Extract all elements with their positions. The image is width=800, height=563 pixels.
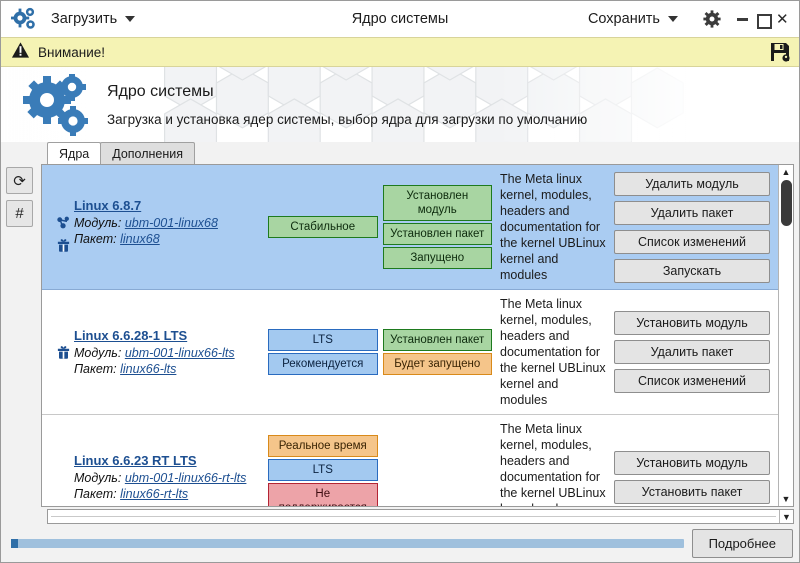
module-icon bbox=[56, 215, 71, 235]
action-button[interactable]: Список изменений bbox=[614, 369, 770, 393]
package-link[interactable]: linux68 bbox=[120, 232, 160, 246]
progress-bar bbox=[11, 539, 684, 548]
details-button[interactable]: Подробнее bbox=[692, 529, 793, 558]
status-badge: Рекомендуется bbox=[268, 353, 378, 375]
kernel-actions: Установить модульУстановить пакет bbox=[614, 451, 770, 504]
save-menu-label: Сохранить bbox=[588, 11, 660, 27]
close-icon[interactable]: ✕ bbox=[776, 13, 789, 26]
action-button[interactable]: Список изменений bbox=[614, 230, 770, 254]
kernel-description: The Meta linux kernel, modules, headers … bbox=[492, 296, 614, 408]
warning-text: Внимание! bbox=[38, 45, 105, 60]
kernel-row-icons bbox=[52, 327, 74, 377]
package-link[interactable]: linux66-lts bbox=[120, 362, 176, 376]
package-icon bbox=[56, 238, 71, 258]
module-link[interactable]: ubm-001-linux68 bbox=[125, 216, 218, 230]
package-link[interactable]: linux66-rt-lts bbox=[120, 487, 188, 501]
badge-left-column: LTSРекомендуется bbox=[268, 329, 378, 375]
load-menu-button[interactable]: Загрузить bbox=[45, 8, 141, 30]
footer-bar: Подробнее bbox=[1, 524, 799, 562]
kernel-module-line: Модуль: ubm-001-linux68 bbox=[74, 215, 262, 231]
main-body: ⟳ # Linux 6.8.7Модуль: ubm-001-linux68Па… bbox=[1, 164, 799, 507]
kernel-text-block: Linux 6.6.23 RT LTSМодуль: ubm-001-linux… bbox=[74, 452, 262, 502]
kernel-row[interactable]: Linux 6.6.28-1 LTSМодуль: ubm-001-linux6… bbox=[42, 290, 778, 415]
status-badge: Не поддерживается bbox=[268, 483, 378, 506]
minimize-icon[interactable] bbox=[736, 13, 749, 26]
kernel-description: The Meta linux kernel, modules, headers … bbox=[492, 421, 614, 506]
status-badge: Реальное время bbox=[268, 435, 378, 457]
scroll-up-arrow-icon[interactable]: ▲ bbox=[782, 165, 791, 179]
hero-subtitle: Загрузка и установка ядер системы, выбор… bbox=[107, 112, 587, 127]
floppy-save-icon[interactable] bbox=[769, 41, 791, 63]
kernel-info: Linux 6.6.28-1 LTSМодуль: ubm-001-linux6… bbox=[52, 327, 262, 377]
load-menu-label: Загрузить bbox=[51, 11, 117, 27]
kernel-badges: Реальное времяLTSНе поддерживается bbox=[262, 435, 492, 506]
badge-left-column: Стабильное bbox=[268, 216, 378, 238]
kernel-row[interactable]: Linux 6.8.7Модуль: ubm-001-linux68Пакет:… bbox=[42, 165, 778, 290]
package-icon bbox=[56, 345, 71, 365]
kernel-name-link[interactable]: Linux 6.6.28-1 LTS bbox=[74, 328, 187, 343]
window-controls: ✕ bbox=[736, 13, 793, 26]
scroll-right-arrow-icon[interactable]: ▼ bbox=[779, 510, 793, 523]
scroll-down-arrow-icon[interactable]: ▼ bbox=[782, 492, 791, 506]
module-label: Модуль: bbox=[74, 471, 121, 485]
kernel-package-line: Пакет: linux66-lts bbox=[74, 361, 262, 377]
tab-bar: Ядра Дополнения bbox=[1, 142, 799, 164]
action-button[interactable]: Установить модуль bbox=[614, 311, 770, 335]
status-badge: Установлен модуль bbox=[383, 185, 493, 221]
kernel-list-panel: Linux 6.8.7Модуль: ubm-001-linux68Пакет:… bbox=[41, 164, 794, 507]
hero-title: Ядро системы bbox=[107, 83, 587, 101]
hero-text: Ядро системы Загрузка и установка ядер с… bbox=[107, 83, 587, 127]
save-menu-button[interactable]: Сохранить bbox=[582, 8, 684, 30]
kernel-description: The Meta linux kernel, modules, headers … bbox=[492, 171, 614, 283]
chevron-down-icon bbox=[125, 16, 135, 22]
kernel-package-line: Пакет: linux68 bbox=[74, 231, 262, 247]
badge-left-column: Реальное времяLTSНе поддерживается bbox=[268, 435, 378, 506]
kernel-list: Linux 6.8.7Модуль: ubm-001-linux68Пакет:… bbox=[42, 165, 778, 506]
hero-banner: Ядро системы Загрузка и установка ядер с… bbox=[1, 67, 799, 142]
status-badge: Установлен пакет bbox=[383, 329, 493, 351]
title-bar-right: Сохранить bbox=[582, 8, 793, 30]
tab-kernels[interactable]: Ядра bbox=[47, 142, 101, 164]
kernel-actions: Удалить модульУдалить пакетСписок измене… bbox=[614, 172, 770, 283]
scrollbar-thumb[interactable] bbox=[781, 180, 792, 226]
hero-gears-icon bbox=[19, 74, 91, 136]
action-button[interactable]: Установить модуль bbox=[614, 451, 770, 475]
module-link[interactable]: ubm-001-linux66-rt-lts bbox=[125, 471, 247, 485]
kernel-row-icons bbox=[52, 197, 74, 258]
status-badge: Стабильное bbox=[268, 216, 378, 238]
badge-right-column: Установлен модульУстановлен пакетЗапущен… bbox=[383, 185, 493, 269]
maximize-icon[interactable] bbox=[756, 13, 769, 26]
refresh-button[interactable]: ⟳ bbox=[6, 167, 33, 194]
package-label: Пакет: bbox=[74, 362, 117, 376]
action-button[interactable]: Запускать bbox=[614, 259, 770, 283]
kernel-actions: Установить модульУдалить пакетСписок изм… bbox=[614, 311, 770, 393]
kernel-row[interactable]: Linux 6.6.23 RT LTSМодуль: ubm-001-linux… bbox=[42, 415, 778, 506]
kernel-name-link[interactable]: Linux 6.8.7 bbox=[74, 198, 141, 213]
kernel-package-line: Пакет: linux66-rt-lts bbox=[74, 486, 262, 502]
kernel-text-block: Linux 6.8.7Модуль: ubm-001-linux68Пакет:… bbox=[74, 197, 262, 258]
status-badge: LTS bbox=[268, 329, 378, 351]
status-badge: Установлен пакет bbox=[383, 223, 493, 245]
kernel-badges: СтабильноеУстановлен модульУстановлен па… bbox=[262, 185, 492, 269]
warning-triangle-icon bbox=[11, 41, 30, 64]
kernel-row-icons bbox=[52, 452, 74, 502]
tab-extras[interactable]: Дополнения bbox=[100, 142, 195, 164]
package-label: Пакет: bbox=[74, 232, 117, 246]
chevron-down-icon bbox=[668, 16, 678, 22]
hash-button[interactable]: # bbox=[6, 200, 33, 227]
package-label: Пакет: bbox=[74, 487, 117, 501]
action-button[interactable]: Удалить пакет bbox=[614, 201, 770, 225]
status-badge: LTS bbox=[268, 459, 378, 481]
title-bar-left: Загрузить bbox=[11, 7, 141, 31]
gear-icon[interactable] bbox=[702, 9, 722, 29]
vertical-scrollbar[interactable]: ▲ ▼ bbox=[778, 165, 793, 506]
action-button[interactable]: Удалить модуль bbox=[614, 172, 770, 196]
module-link[interactable]: ubm-001-linux66-lts bbox=[125, 346, 235, 360]
badge-right-column: Установлен пакетБудет запущено bbox=[383, 329, 493, 375]
side-toolbar: ⟳ # bbox=[1, 164, 41, 507]
action-button[interactable]: Установить пакет bbox=[614, 480, 770, 504]
kernel-info: Linux 6.8.7Модуль: ubm-001-linux68Пакет:… bbox=[52, 197, 262, 258]
action-button[interactable]: Удалить пакет bbox=[614, 340, 770, 364]
kernel-module-line: Модуль: ubm-001-linux66-rt-lts bbox=[74, 470, 262, 486]
kernel-info: Linux 6.6.23 RT LTSМодуль: ubm-001-linux… bbox=[52, 452, 262, 502]
application-window: Загрузить Ядро системы Сохранить bbox=[0, 0, 800, 563]
title-bar: Загрузить Ядро системы Сохранить bbox=[1, 1, 799, 37]
hscrollbar-track bbox=[51, 516, 776, 517]
horizontal-scrollbar[interactable]: ▼ bbox=[47, 509, 794, 524]
status-badge: Будет запущено bbox=[383, 353, 493, 375]
progress-fill bbox=[11, 539, 18, 548]
module-label: Модуль: bbox=[74, 216, 121, 230]
kernel-module-line: Модуль: ubm-001-linux66-lts bbox=[74, 345, 262, 361]
kernel-badges: LTSРекомендуетсяУстановлен пакетБудет за… bbox=[262, 329, 492, 375]
kernel-text-block: Linux 6.6.28-1 LTSМодуль: ubm-001-linux6… bbox=[74, 327, 262, 377]
kernel-name-link[interactable]: Linux 6.6.23 RT LTS bbox=[74, 453, 197, 468]
status-badge: Запущено bbox=[383, 247, 493, 269]
module-label: Модуль: bbox=[74, 346, 121, 360]
warning-bar: Внимание! bbox=[1, 37, 799, 67]
app-gears-icon bbox=[11, 7, 37, 31]
